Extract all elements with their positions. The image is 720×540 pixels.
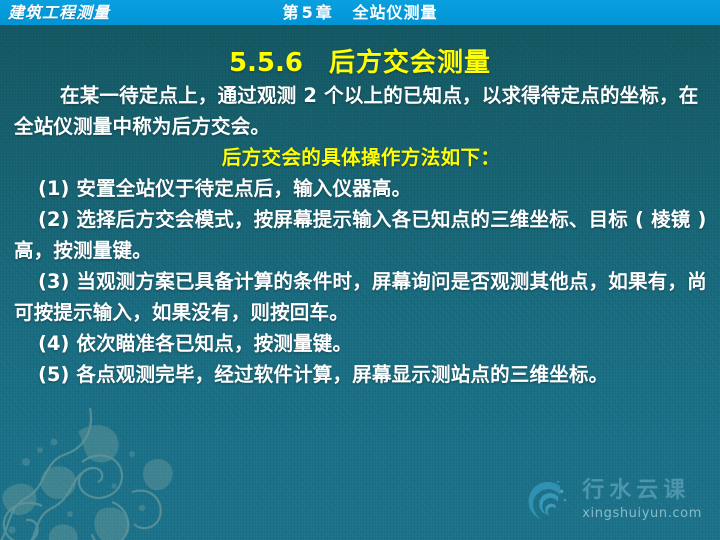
slide-header-bar: 建筑工程测量 第5章 全站仪测量 bbox=[0, 0, 720, 25]
chapter-unit: 章 bbox=[316, 3, 333, 22]
step-item-5: (5) 各点观测完毕，经过软件计算，屏幕显示测站点的三维坐标。 bbox=[14, 359, 708, 390]
wave-swirl-logo bbox=[520, 474, 572, 526]
brand-domain: xingshuiyun.com bbox=[582, 507, 702, 520]
chapter-label: 第 bbox=[283, 3, 300, 22]
chapter-number: 5 bbox=[300, 3, 316, 22]
body-subheading: 后方交会的具体操作方法如下： bbox=[14, 142, 708, 173]
step-text: 各点观测完毕，经过软件计算，屏幕显示测站点的三维坐标。 bbox=[76, 363, 608, 386]
step-text: 选择后方交会模式，按屏幕提示输入各已知点的三维坐标、目标 ( 棱镜 ) 高，按测… bbox=[14, 208, 707, 262]
section-title: 后方交会测量 bbox=[329, 48, 491, 78]
brand-watermark: 行水云课 xingshuiyun.com bbox=[520, 474, 702, 526]
step-marker: (3) bbox=[38, 270, 69, 293]
step-item-4: (4) 依次瞄准各已知点，按测量键。 bbox=[14, 328, 708, 359]
intro-paragraph: 在某一待定点上，通过观测 2 个以上的已知点，以求得待定点的坐标，在全站仪测量中… bbox=[14, 80, 708, 142]
step-marker: (4) bbox=[38, 332, 69, 355]
step-text: 当观测方案已具备计算的条件时，屏幕询问是否观测其他点，如果有，尚可按提示输入，如… bbox=[14, 270, 707, 324]
chapter-title: 全站仪测量 bbox=[352, 3, 437, 22]
watermark-text-group: 行水云课 xingshuiyun.com bbox=[582, 480, 702, 520]
course-title: 建筑工程测量 bbox=[8, 1, 110, 25]
step-text: 安置全站仪于待定点后，输入仪器高。 bbox=[76, 177, 411, 200]
step-item-3: (3) 当观测方案已具备计算的条件时，屏幕询问是否观测其他点，如果有，尚可按提示… bbox=[14, 266, 708, 328]
slide-canvas: 建筑工程测量 第5章 全站仪测量 5.5.6后方交会测量 在某一待定点上，通过观… bbox=[0, 0, 720, 540]
brand-name-cn: 行水云课 bbox=[582, 480, 702, 502]
step-marker: (1) bbox=[38, 177, 69, 200]
step-marker: (5) bbox=[38, 363, 69, 386]
step-marker: (2) bbox=[38, 208, 69, 231]
step-text: 依次瞄准各已知点，按测量键。 bbox=[76, 332, 352, 355]
step-item-1: (1) 安置全站仪于待定点后，输入仪器高。 bbox=[14, 173, 708, 204]
section-number: 5.5.6 bbox=[229, 48, 303, 78]
step-item-2: (2) 选择后方交会模式，按屏幕提示输入各已知点的三维坐标、目标 ( 棱镜 ) … bbox=[14, 204, 708, 266]
slide-title: 5.5.6后方交会测量 bbox=[0, 42, 720, 79]
floral-ornament bbox=[0, 402, 232, 540]
slide-body: 在某一待定点上，通过观测 2 个以上的已知点，以求得待定点的坐标，在全站仪测量中… bbox=[14, 80, 708, 390]
